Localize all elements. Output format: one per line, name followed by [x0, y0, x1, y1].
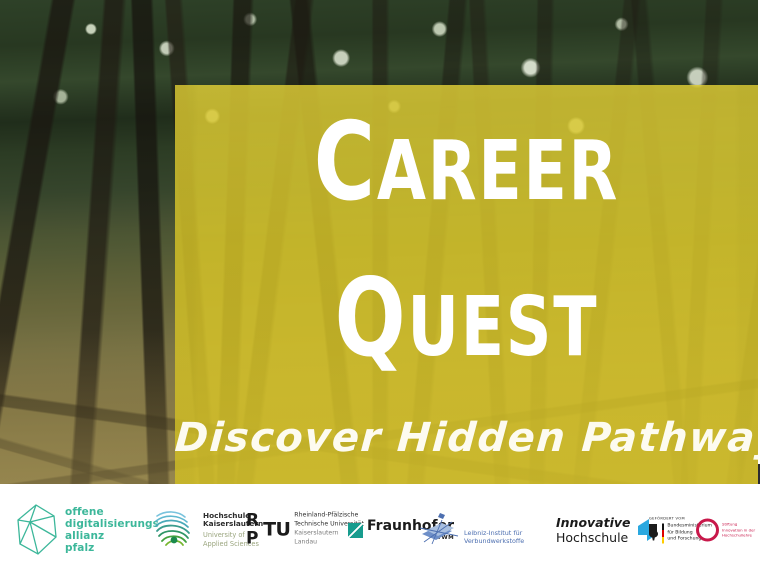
ivw-composite-icon — [418, 510, 462, 550]
odap-line-4: pfalz — [65, 542, 159, 554]
title-quest-rest: UEST — [407, 280, 598, 375]
stiftung-wordmark: Stiftung Innovation in der Hochschullehr… — [722, 521, 755, 539]
german-flag-bar-icon — [662, 524, 664, 544]
ivw-wordmark: Leibniz-Institut für Verbundwerkstoffe — [464, 529, 524, 550]
tagline: Discover Hidden Pathways — [173, 415, 758, 461]
title-line-career: CAREER — [216, 109, 717, 217]
stiftung-line-3: Hochschullehre — [722, 533, 755, 539]
ivw-line-1: Leibniz-Institut für — [464, 529, 524, 538]
odap-line-3: allianz — [65, 530, 159, 542]
fraunhofer-mark-icon — [348, 523, 363, 538]
fingerprint-icon — [152, 507, 198, 553]
title-line-quest: QUEST — [216, 265, 717, 373]
logo-rptu: R P TU Rheinland-Pfälzische Technische U… — [246, 512, 364, 549]
presentation-slide: CAREER QUEST Discover Hidden Pathways — [0, 0, 768, 576]
partner-logo-bar: offene digitalisierungs allianz pfalz — [0, 484, 768, 576]
odap-polygon-icon — [16, 504, 58, 556]
title-quest-initial: Q — [335, 256, 408, 381]
logo-stiftung-innovation-hochschullehre: Stiftung Innovation in der Hochschullehr… — [696, 519, 755, 542]
innovative-hochschule-wordmark: Innovative Hochschule — [556, 515, 631, 545]
logo-leibniz-ivw: Leibniz-Institut für Verbundwerkstoffe — [418, 510, 524, 550]
rptu-letter-p: P — [246, 530, 259, 548]
title-career-initial: C — [314, 100, 377, 225]
bmbf-kicker: GEFÖRDERT VOM — [649, 517, 685, 521]
federal-eagle-icon — [648, 525, 659, 543]
title-block: CAREER QUEST Discover Hidden Pathways — [175, 85, 758, 484]
ivw-line-2: Verbundwerkstoffe — [464, 537, 524, 546]
ih-line-1: Innovative — [556, 515, 631, 530]
odap-wordmark: offene digitalisierungs allianz pfalz — [65, 506, 159, 555]
logo-innovative-hochschule: Innovative Hochschule — [556, 515, 661, 545]
rptu-rp-letters: R P — [246, 512, 259, 549]
ih-line-2: Hochschule — [556, 530, 631, 545]
rptu-letters-tu: TU — [263, 519, 290, 541]
title-career-rest: AREER — [377, 124, 619, 219]
hero-forest-photo: CAREER QUEST Discover Hidden Pathways — [0, 0, 758, 484]
rptu-letter-r: R — [246, 512, 259, 530]
odap-line-2: digitalisierungs — [65, 518, 159, 530]
odap-line-1: offene — [65, 506, 159, 518]
stiftung-ring-icon — [696, 519, 719, 542]
logo-offene-digitalisierungsallianz-pfalz: offene digitalisierungs allianz pfalz — [16, 504, 159, 556]
